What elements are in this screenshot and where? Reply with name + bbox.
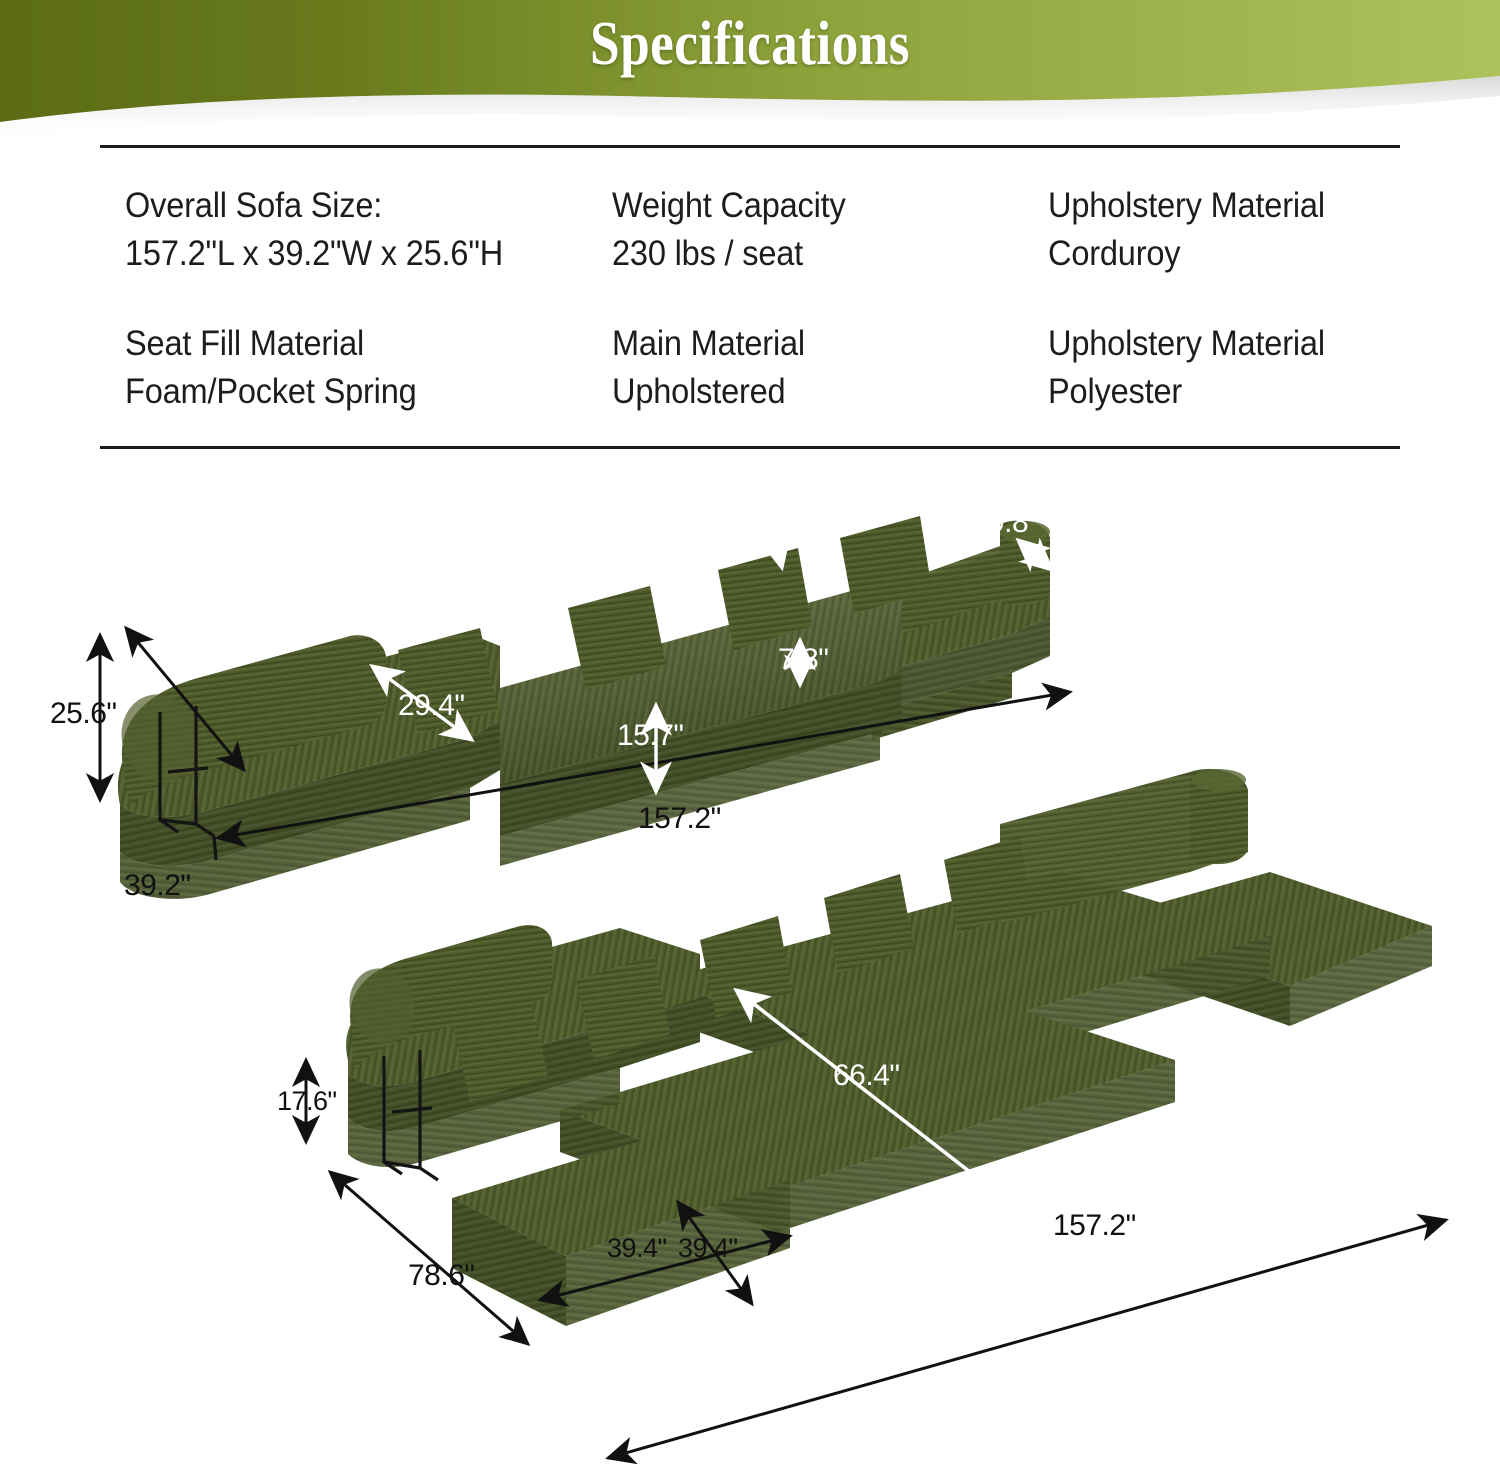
header-banner: Specifications bbox=[0, 0, 1500, 135]
product-diagrams: 25.6" 39.2" 29.4" 20" 20" 9.8" 7.8" 15.7… bbox=[0, 420, 1500, 1467]
spec-label: Overall Sofa Size: bbox=[125, 182, 578, 230]
spec-grid: Overall Sofa Size: 157.2"L x 39.2"W x 25… bbox=[100, 148, 1400, 446]
spec-item-main-material: Main Material Upholstered bbox=[612, 320, 1048, 416]
spec-label: Weight Capacity bbox=[612, 182, 1017, 230]
spec-item-overall-sofa-size: Overall Sofa Size: 157.2"L x 39.2"W x 25… bbox=[125, 182, 612, 278]
spec-label: Upholstery Material bbox=[1048, 182, 1375, 230]
spec-label: Main Material bbox=[612, 320, 1017, 368]
dimension-label-module-width-left: 39.4" bbox=[607, 1232, 667, 1264]
spec-value: 157.2"L x 39.2"W x 25.6"H bbox=[125, 230, 578, 278]
spec-value: Corduroy bbox=[1048, 230, 1375, 278]
spec-item-upholstery-material-corduroy: Upholstery Material Corduroy bbox=[1048, 182, 1400, 278]
dimension-label-pillow-height: 20" bbox=[766, 499, 809, 531]
dimension-label-pillow-width: 20" bbox=[728, 534, 771, 566]
dimension-label-bed-length: 157.2" bbox=[1053, 1210, 1136, 1242]
spec-item-upholstery-material-polyester: Upholstery Material Polyester bbox=[1048, 320, 1400, 416]
dimension-label-height: 25.6" bbox=[50, 698, 117, 730]
dimension-label-overall-length: 157.2" bbox=[638, 803, 721, 835]
spec-value: Foam/Pocket Spring bbox=[125, 368, 578, 416]
dimension-label-module-width-right: 39.4" bbox=[678, 1232, 738, 1264]
spec-item-seat-fill-material: Seat Fill Material Foam/Pocket Spring bbox=[125, 320, 612, 416]
dimension-label-bed-depth: 78.6" bbox=[408, 1260, 475, 1292]
spec-value: Polyester bbox=[1048, 368, 1375, 416]
dimension-label-cushion-thickness: 7.8" bbox=[778, 644, 828, 676]
spec-value: Upholstered bbox=[612, 368, 1017, 416]
sofa-illustration-bed-mode bbox=[306, 769, 1446, 1458]
specifications-table: Overall Sofa Size: 157.2"L x 39.2"W x 25… bbox=[100, 145, 1400, 449]
dimension-label-seat-depth: 29.4" bbox=[398, 690, 465, 722]
sofa-illustration-sofa-mode bbox=[100, 485, 1070, 899]
dimension-label-bed-height: 17.6" bbox=[277, 1085, 337, 1117]
specifications-page: Specifications Overall Sofa Size: 157.2"… bbox=[0, 0, 1500, 1467]
dimension-label-armrest-width: 9.8" bbox=[988, 507, 1038, 539]
dimension-label-seat-height: 15.7" bbox=[617, 720, 684, 752]
dimension-label-depth: 39.2" bbox=[124, 870, 191, 902]
spec-label: Upholstery Material bbox=[1048, 320, 1375, 368]
dimension-label-bed-width: 66.4" bbox=[833, 1060, 900, 1092]
spec-item-weight-capacity: Weight Capacity 230 lbs / seat bbox=[612, 182, 1048, 278]
spec-label: Seat Fill Material bbox=[125, 320, 578, 368]
spec-value: 230 lbs / seat bbox=[612, 230, 1017, 278]
